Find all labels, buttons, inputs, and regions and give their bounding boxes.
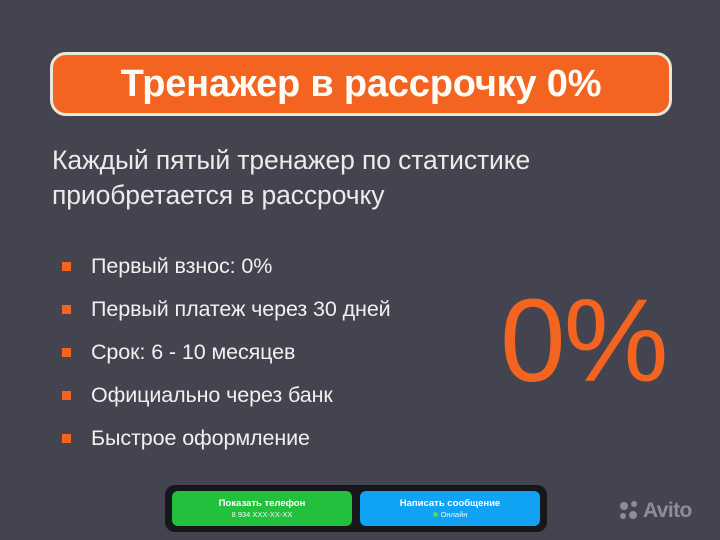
list-item: Быстрое оформление (62, 417, 522, 460)
show-phone-button[interactable]: Показать телефон 8 934 XXX-XX-XX (172, 491, 352, 526)
avito-dots-icon (620, 501, 639, 520)
online-status: Онлайн (433, 511, 468, 519)
benefit-label: Официально через банк (91, 385, 333, 407)
list-item: Срок: 6 - 10 месяцев (62, 331, 522, 374)
headline-banner: Тренажер в рассрочку 0% (50, 52, 672, 116)
online-dot-icon (433, 512, 438, 517)
subtitle-text: Каждый пятый тренажер по статистике прио… (52, 143, 677, 213)
send-message-label: Написать сообщение (400, 499, 500, 509)
bullet-square-icon (62, 262, 71, 271)
list-item: Официально через банк (62, 374, 522, 417)
zero-percent-accent: 0% (500, 282, 667, 400)
bullet-square-icon (62, 434, 71, 443)
benefit-list: Первый взнос: 0% Первый платеж через 30 … (62, 245, 522, 460)
list-item: Первый взнос: 0% (62, 245, 522, 288)
benefit-label: Быстрое оформление (91, 428, 310, 450)
promo-slide: Тренажер в рассрочку 0% Каждый пятый тре… (0, 0, 720, 540)
list-item: Первый платеж через 30 дней (62, 288, 522, 331)
benefit-label: Первый взнос: 0% (91, 256, 272, 278)
send-message-button[interactable]: Написать сообщение Онлайн (360, 491, 540, 526)
avito-watermark: Avito (620, 500, 692, 521)
bullet-square-icon (62, 391, 71, 400)
benefit-label: Первый платеж через 30 дней (91, 299, 391, 321)
headline-title: Тренажер в рассрочку 0% (121, 65, 602, 103)
show-phone-label: Показать телефон (219, 499, 306, 509)
bullet-square-icon (62, 305, 71, 314)
online-status-label: Онлайн (441, 511, 468, 519)
benefit-label: Срок: 6 - 10 месяцев (91, 342, 295, 364)
bullet-square-icon (62, 348, 71, 357)
avito-action-bar: Показать телефон 8 934 XXX-XX-XX Написат… (165, 485, 547, 532)
phone-number-text: 8 934 XXX-XX-XX (232, 511, 293, 519)
avito-wordmark: Avito (643, 500, 692, 521)
